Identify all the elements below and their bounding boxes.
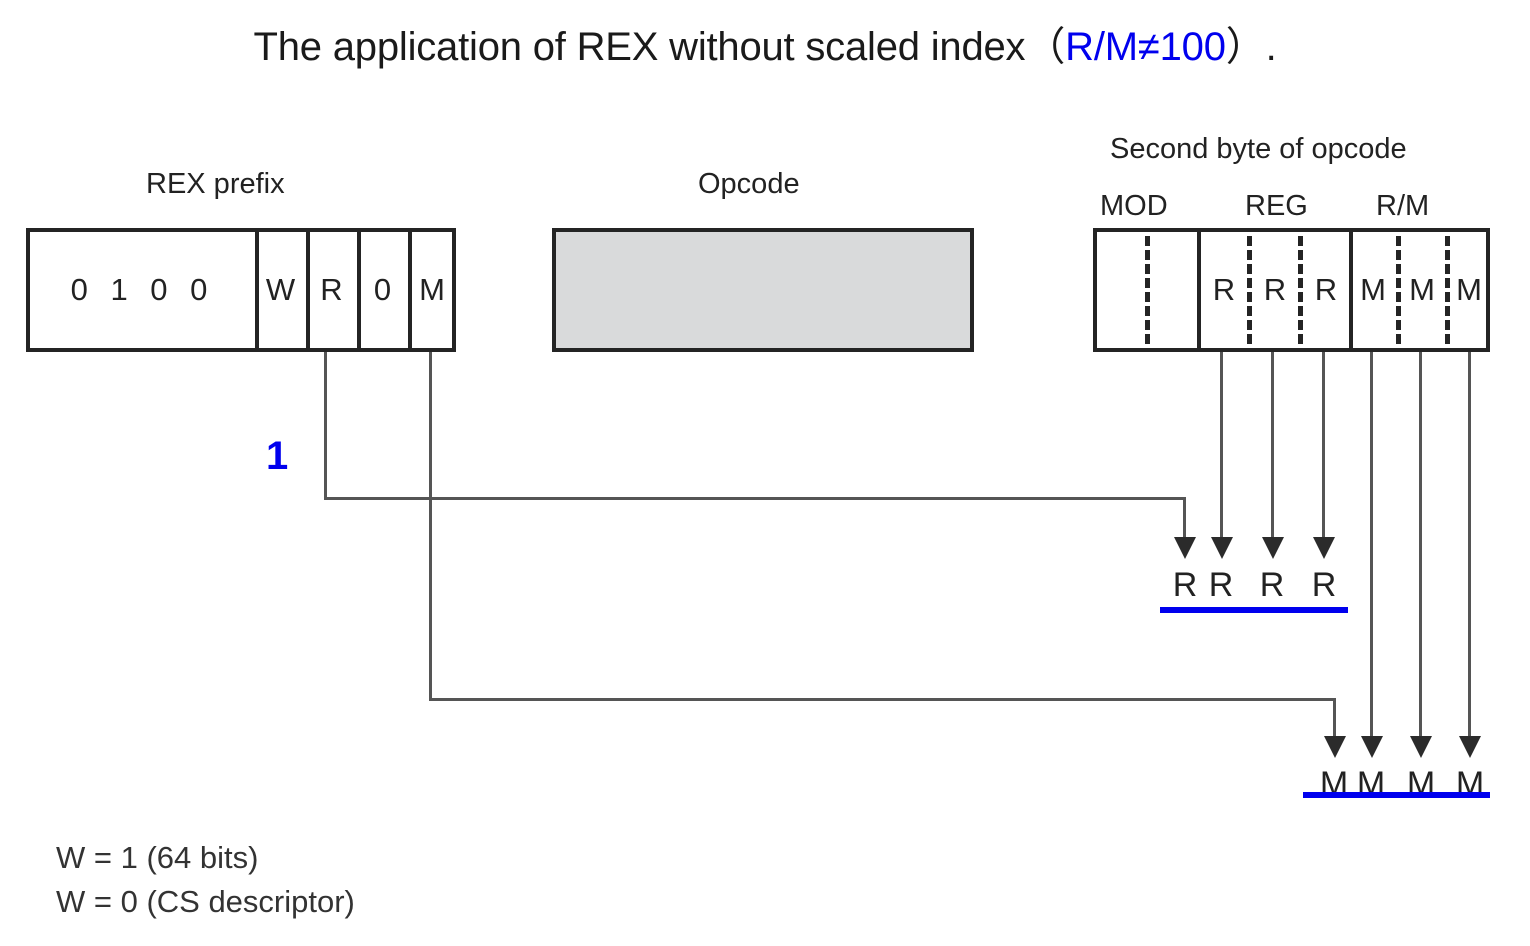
rex-field-zero: 0	[357, 272, 408, 308]
group-label-reg: REG	[1245, 190, 1308, 223]
rm-cell-0: M	[1350, 272, 1396, 308]
arrow-rm-2	[1459, 736, 1481, 758]
rex-prefix-label: REX prefix	[146, 168, 285, 201]
connector-rm-2-vertical	[1468, 352, 1471, 740]
arrow-reg-1	[1262, 537, 1284, 559]
connector-rm-0-vertical	[1370, 352, 1373, 740]
rm-cell-2: M	[1447, 272, 1491, 308]
reg-cell-2: R	[1303, 272, 1349, 308]
opcode-label: Opcode	[698, 168, 800, 201]
rex-field-r: R	[306, 272, 357, 308]
arrow-rm-1	[1410, 736, 1432, 758]
rm-result-underline	[1303, 792, 1490, 798]
connector-rex-m-horizontal	[429, 698, 1336, 701]
page-title: The application of REX without scaled in…	[0, 14, 1530, 72]
group-label-mod: MOD	[1100, 190, 1168, 223]
mod-bit-divider	[1145, 236, 1150, 344]
connector-rex-m-vertical	[429, 352, 432, 700]
second-byte-label: Second byte of opcode	[1110, 133, 1407, 166]
connector-rex-r-horizontal	[324, 497, 1186, 500]
connector-reg-2-vertical	[1322, 352, 1325, 541]
rm-result-2: M	[1399, 765, 1443, 804]
reg-result-underline	[1160, 607, 1348, 613]
legend-line-2: W = 0 (CS descriptor)	[56, 884, 355, 920]
connector-reg-1-vertical	[1271, 352, 1274, 541]
connector-rm-1-vertical	[1419, 352, 1422, 740]
rex-r-annotation: 1	[266, 434, 288, 479]
title-suffix: ）.	[1226, 25, 1277, 69]
connector-rex-r-drop	[1183, 497, 1186, 541]
rm-result-3: M	[1448, 765, 1492, 804]
group-label-rm: R/M	[1376, 190, 1429, 223]
rex-fixed-bits: 0 1 0 0	[30, 272, 255, 308]
arrow-rm-0	[1361, 736, 1383, 758]
opcode-box	[552, 228, 974, 352]
reg-result-1: R	[1199, 566, 1243, 605]
rex-field-m: M	[408, 272, 456, 308]
arrow-reg-2	[1313, 537, 1335, 559]
reg-cell-0: R	[1201, 272, 1247, 308]
connector-rex-m-drop	[1333, 698, 1336, 740]
title-prefix: The application of REX without scaled in…	[254, 25, 1066, 69]
arrow-rex-m	[1324, 736, 1346, 758]
rex-field-w: W	[255, 272, 306, 308]
reg-result-3: R	[1302, 566, 1346, 605]
arrow-reg-0	[1211, 537, 1233, 559]
arrow-rex-r	[1174, 537, 1196, 559]
rm-cell-1: M	[1399, 272, 1445, 308]
title-highlight: R/M≠100	[1065, 25, 1226, 69]
reg-cell-1: R	[1252, 272, 1298, 308]
reg-result-2: R	[1250, 566, 1294, 605]
connector-rex-r-vertical	[324, 352, 327, 500]
connector-reg-0-vertical	[1220, 352, 1223, 541]
diagram-canvas: The application of REX without scaled in…	[0, 0, 1530, 946]
legend-line-1: W = 1 (64 bits)	[56, 840, 258, 876]
rm-result-1: M	[1349, 765, 1393, 804]
